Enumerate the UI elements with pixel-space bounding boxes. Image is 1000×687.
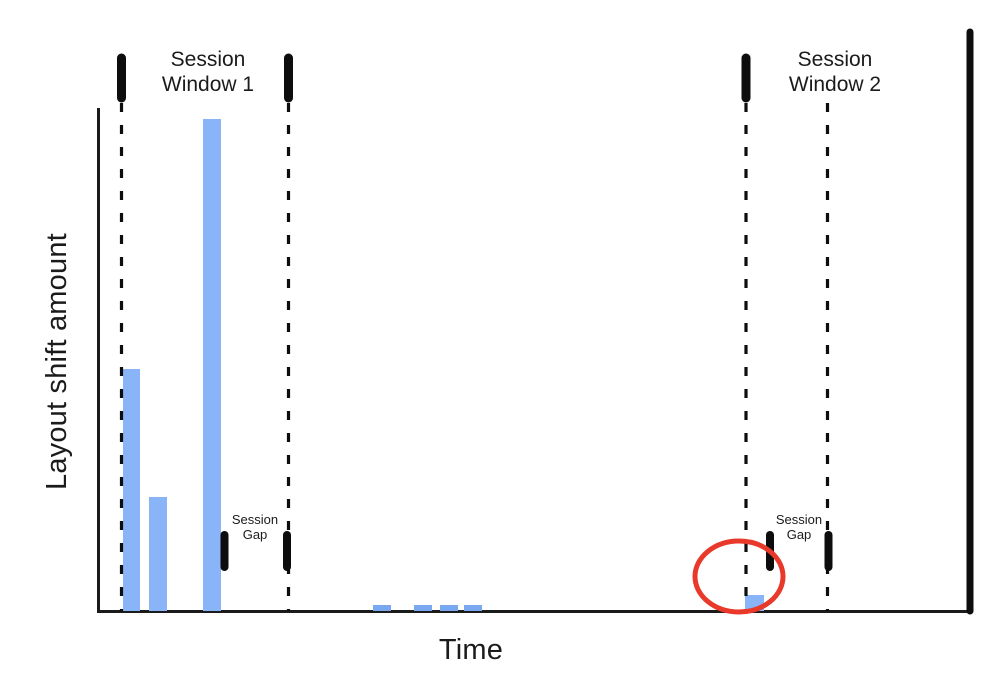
bar-shift-6 bbox=[440, 605, 458, 611]
highlight-ellipse-icon bbox=[695, 541, 783, 612]
x-axis-label: Time bbox=[406, 634, 536, 667]
bar-shift-4 bbox=[373, 605, 391, 611]
bar-shift-2 bbox=[149, 497, 167, 611]
bar-shift-1 bbox=[123, 369, 140, 611]
bars-group bbox=[123, 119, 764, 611]
session-window-diagram-svg bbox=[0, 0, 1000, 687]
session-window-2-label: Session Window 2 bbox=[765, 47, 905, 97]
y-axis-label: Layout shift amount bbox=[41, 233, 74, 490]
diagram-canvas: Layout shift amount Time Session Window … bbox=[0, 0, 1000, 687]
bar-shift-5 bbox=[414, 605, 432, 611]
session-gap-2-label: Session Gap bbox=[766, 512, 832, 542]
bar-shift-3 bbox=[203, 119, 221, 611]
session-gap-1-label: Session Gap bbox=[222, 512, 288, 542]
session-window-1-label: Session Window 1 bbox=[138, 47, 278, 97]
bar-shift-7 bbox=[464, 605, 482, 611]
